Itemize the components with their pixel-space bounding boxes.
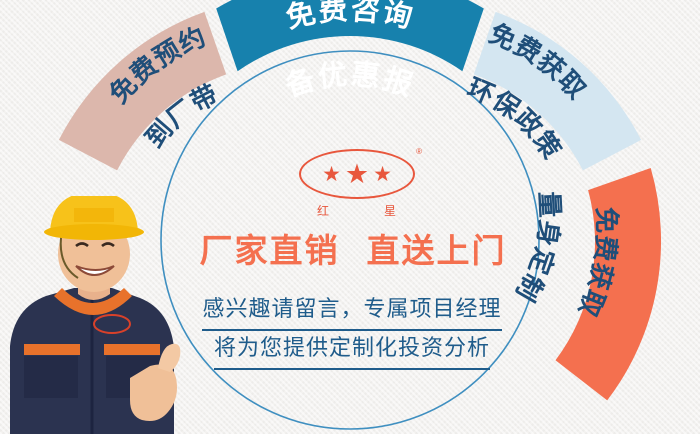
logo-ellipse: ★ ★ ★ ® bbox=[299, 149, 415, 199]
subtext-line-2: 将为您提供定制化投资分析 bbox=[214, 331, 490, 370]
star-icon: ★ bbox=[373, 164, 392, 185]
jacket-stripe-right bbox=[104, 344, 160, 355]
logo-char-left: 红 bbox=[317, 202, 330, 219]
worker-photo bbox=[0, 196, 196, 434]
helmet-label bbox=[74, 208, 114, 222]
jacket-stripe-left bbox=[24, 344, 80, 355]
subtext-block: 感兴趣请留言，专属项目经理 将为您提供定制化投资分析 bbox=[178, 292, 526, 370]
pocket-left bbox=[24, 356, 78, 398]
arc-segment-blue[interactable] bbox=[216, 0, 484, 71]
brand-logo: ★ ★ ★ ® 红 星 bbox=[296, 143, 418, 225]
promo-banner: 免费预约 到厂带料试机 免费咨询 设备优惠报价 免费获取 环保政策分析 免费获取… bbox=[0, 0, 700, 434]
registered-mark: ® bbox=[416, 147, 422, 156]
star-icon: ★ bbox=[345, 161, 369, 188]
helmet-brim bbox=[44, 224, 144, 240]
headline: 厂家直销 直送上门 bbox=[183, 224, 523, 272]
star-icon: ★ bbox=[322, 164, 341, 185]
logo-char-right: 星 bbox=[384, 202, 397, 219]
logo-wordmark: 红 星 bbox=[301, 202, 413, 219]
subtext-line-1: 感兴趣请留言，专属项目经理 bbox=[202, 292, 501, 331]
